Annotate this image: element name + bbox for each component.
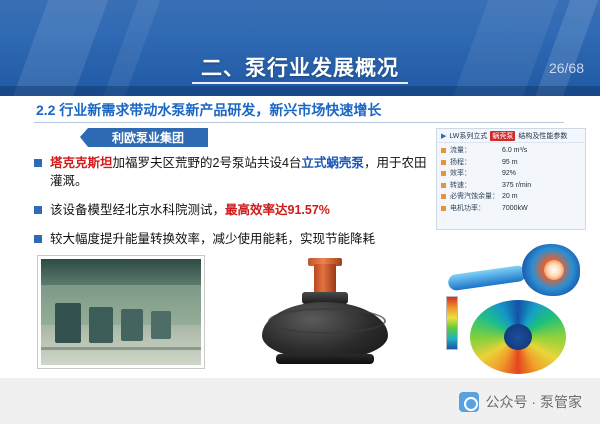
spec-value: 375 r/min [502,180,531,191]
spec-key: 必需汽蚀余量： [450,191,502,202]
square-bullet-icon [441,148,446,153]
spec-row: 扬程： 95 m [441,157,581,168]
pump-column [314,264,336,294]
cfd-volute-pressure [444,238,586,302]
square-bullet-icon [441,183,446,188]
cfd-impeller-velocity [470,300,574,378]
spec-row: 效率： 92% [441,168,581,179]
bullet-marker-icon [34,206,42,214]
slide: 二、泵行业发展概况 26/68 2.2 行业新需求带动水泵新产品研发，新兴市场快… [0,0,600,424]
spec-value: 95 m [502,157,518,168]
bullet-item: 较大幅度提升能量转换效率，减少使用能耗，实现节能降耗 [34,230,434,248]
photo-pump-unit [121,309,143,341]
header-bottom-shade [0,86,600,96]
bullet-1-seg-1: 加福罗夫区荒野的2号泵站共设4台 [113,156,302,170]
photo-rail [41,347,201,350]
square-bullet-icon [441,171,446,176]
pump-casing-ring [268,308,386,334]
cfd-inlet-pipe [447,265,526,292]
spec-key: 电机功率： [450,203,502,214]
spec-header-prefix: LW系列立式 [449,131,487,141]
cfd-impeller-hub [504,324,532,350]
photo-pump-unit [151,311,171,339]
spec-key: 扬程： [450,157,502,168]
spec-key: 效率： [450,168,502,179]
square-bullet-icon [441,206,446,211]
bullet-item: 塔克克斯坦加福罗夫区荒野的2号泵站共设4台立式蜗壳泵，用于农田灌溉。 [34,154,434,190]
bullet-2-seg-1: 最高效率达91.57% [225,203,330,217]
bullet-marker-icon [34,235,42,243]
spec-value: 92% [502,168,516,179]
spec-row: 流量： 6.0 m³/s [441,145,581,156]
bullet-text-3: 较大幅度提升能量转换效率，减少使用能耗，实现节能降耗 [50,232,375,246]
company-tag: 利欧泵业集团 [88,128,208,147]
title-underline [192,82,408,84]
spec-value: 7000kW [502,203,528,214]
page-title: 二、泵行业发展概况 [0,52,600,82]
photo-pump-unit [55,303,81,343]
photo-pump-unit [89,307,113,343]
pump-base [276,354,374,364]
watermark-text: 公众号 · 泵管家 [486,392,582,412]
spec-row-list: 流量： 6.0 m³/s 扬程： 95 m 效率： 92% 转速： 375 r/… [437,143,585,216]
spec-key: 转速： [450,180,502,191]
spec-value: 6.0 m³/s [502,145,527,156]
spec-value: 20 m [502,191,518,202]
bullet-text-1: 塔克克斯坦加福罗夫区荒野的2号泵站共设4台立式蜗壳泵，用于农田灌溉。 [50,156,426,188]
section-subtitle: 2.2 行业新需求带动水泵新产品研发，新兴市场快速增长 [36,100,381,120]
bullet-1-seg-2: 立式蜗壳泵 [301,156,364,170]
pump-station-photo [38,256,204,368]
photo-ceiling [41,259,201,285]
cfd-color-legend [446,296,458,350]
bullet-1-seg-0: 塔克克斯坦 [50,156,113,170]
page-number: 26/68 [549,60,584,76]
bullet-item: 该设备模型经北京水科院测试，最高效率达91.57% [34,201,434,219]
spec-panel: ▶ LW系列立式 蜗壳泵 结构及性能参数 流量： 6.0 m³/s 扬程： 95… [436,128,586,230]
watermark-logo-icon [459,392,479,412]
spec-header-tag: 蜗壳泵 [490,131,515,141]
bullet-list: 塔克克斯坦加福罗夫区荒野的2号泵站共设4台立式蜗壳泵，用于农田灌溉。 该设备模型… [34,154,434,259]
spec-panel-header: ▶ LW系列立式 蜗壳泵 结构及性能参数 [437,129,585,143]
spec-key: 流量： [450,145,502,156]
square-bullet-icon [441,160,446,165]
chevron-right-icon: ▶ [441,132,446,140]
square-bullet-icon [441,194,446,199]
spec-header-suffix: 结构及性能参数 [518,131,567,141]
cfd-volute-core [544,260,564,280]
bullet-2-seg-0: 该设备模型经北京水科院测试， [50,203,225,217]
bullet-marker-icon [34,159,42,167]
subtitle-divider [34,122,564,123]
watermark: 公众号 · 泵管家 [459,392,582,412]
spec-row: 转速： 375 r/min [441,180,581,191]
bullet-text-2: 该设备模型经北京水科院测试，最高效率达91.57% [50,203,330,217]
spec-row: 必需汽蚀余量： 20 m [441,191,581,202]
vertical-volute-pump-render [250,258,400,370]
spec-row: 电机功率： 7000kW [441,203,581,214]
